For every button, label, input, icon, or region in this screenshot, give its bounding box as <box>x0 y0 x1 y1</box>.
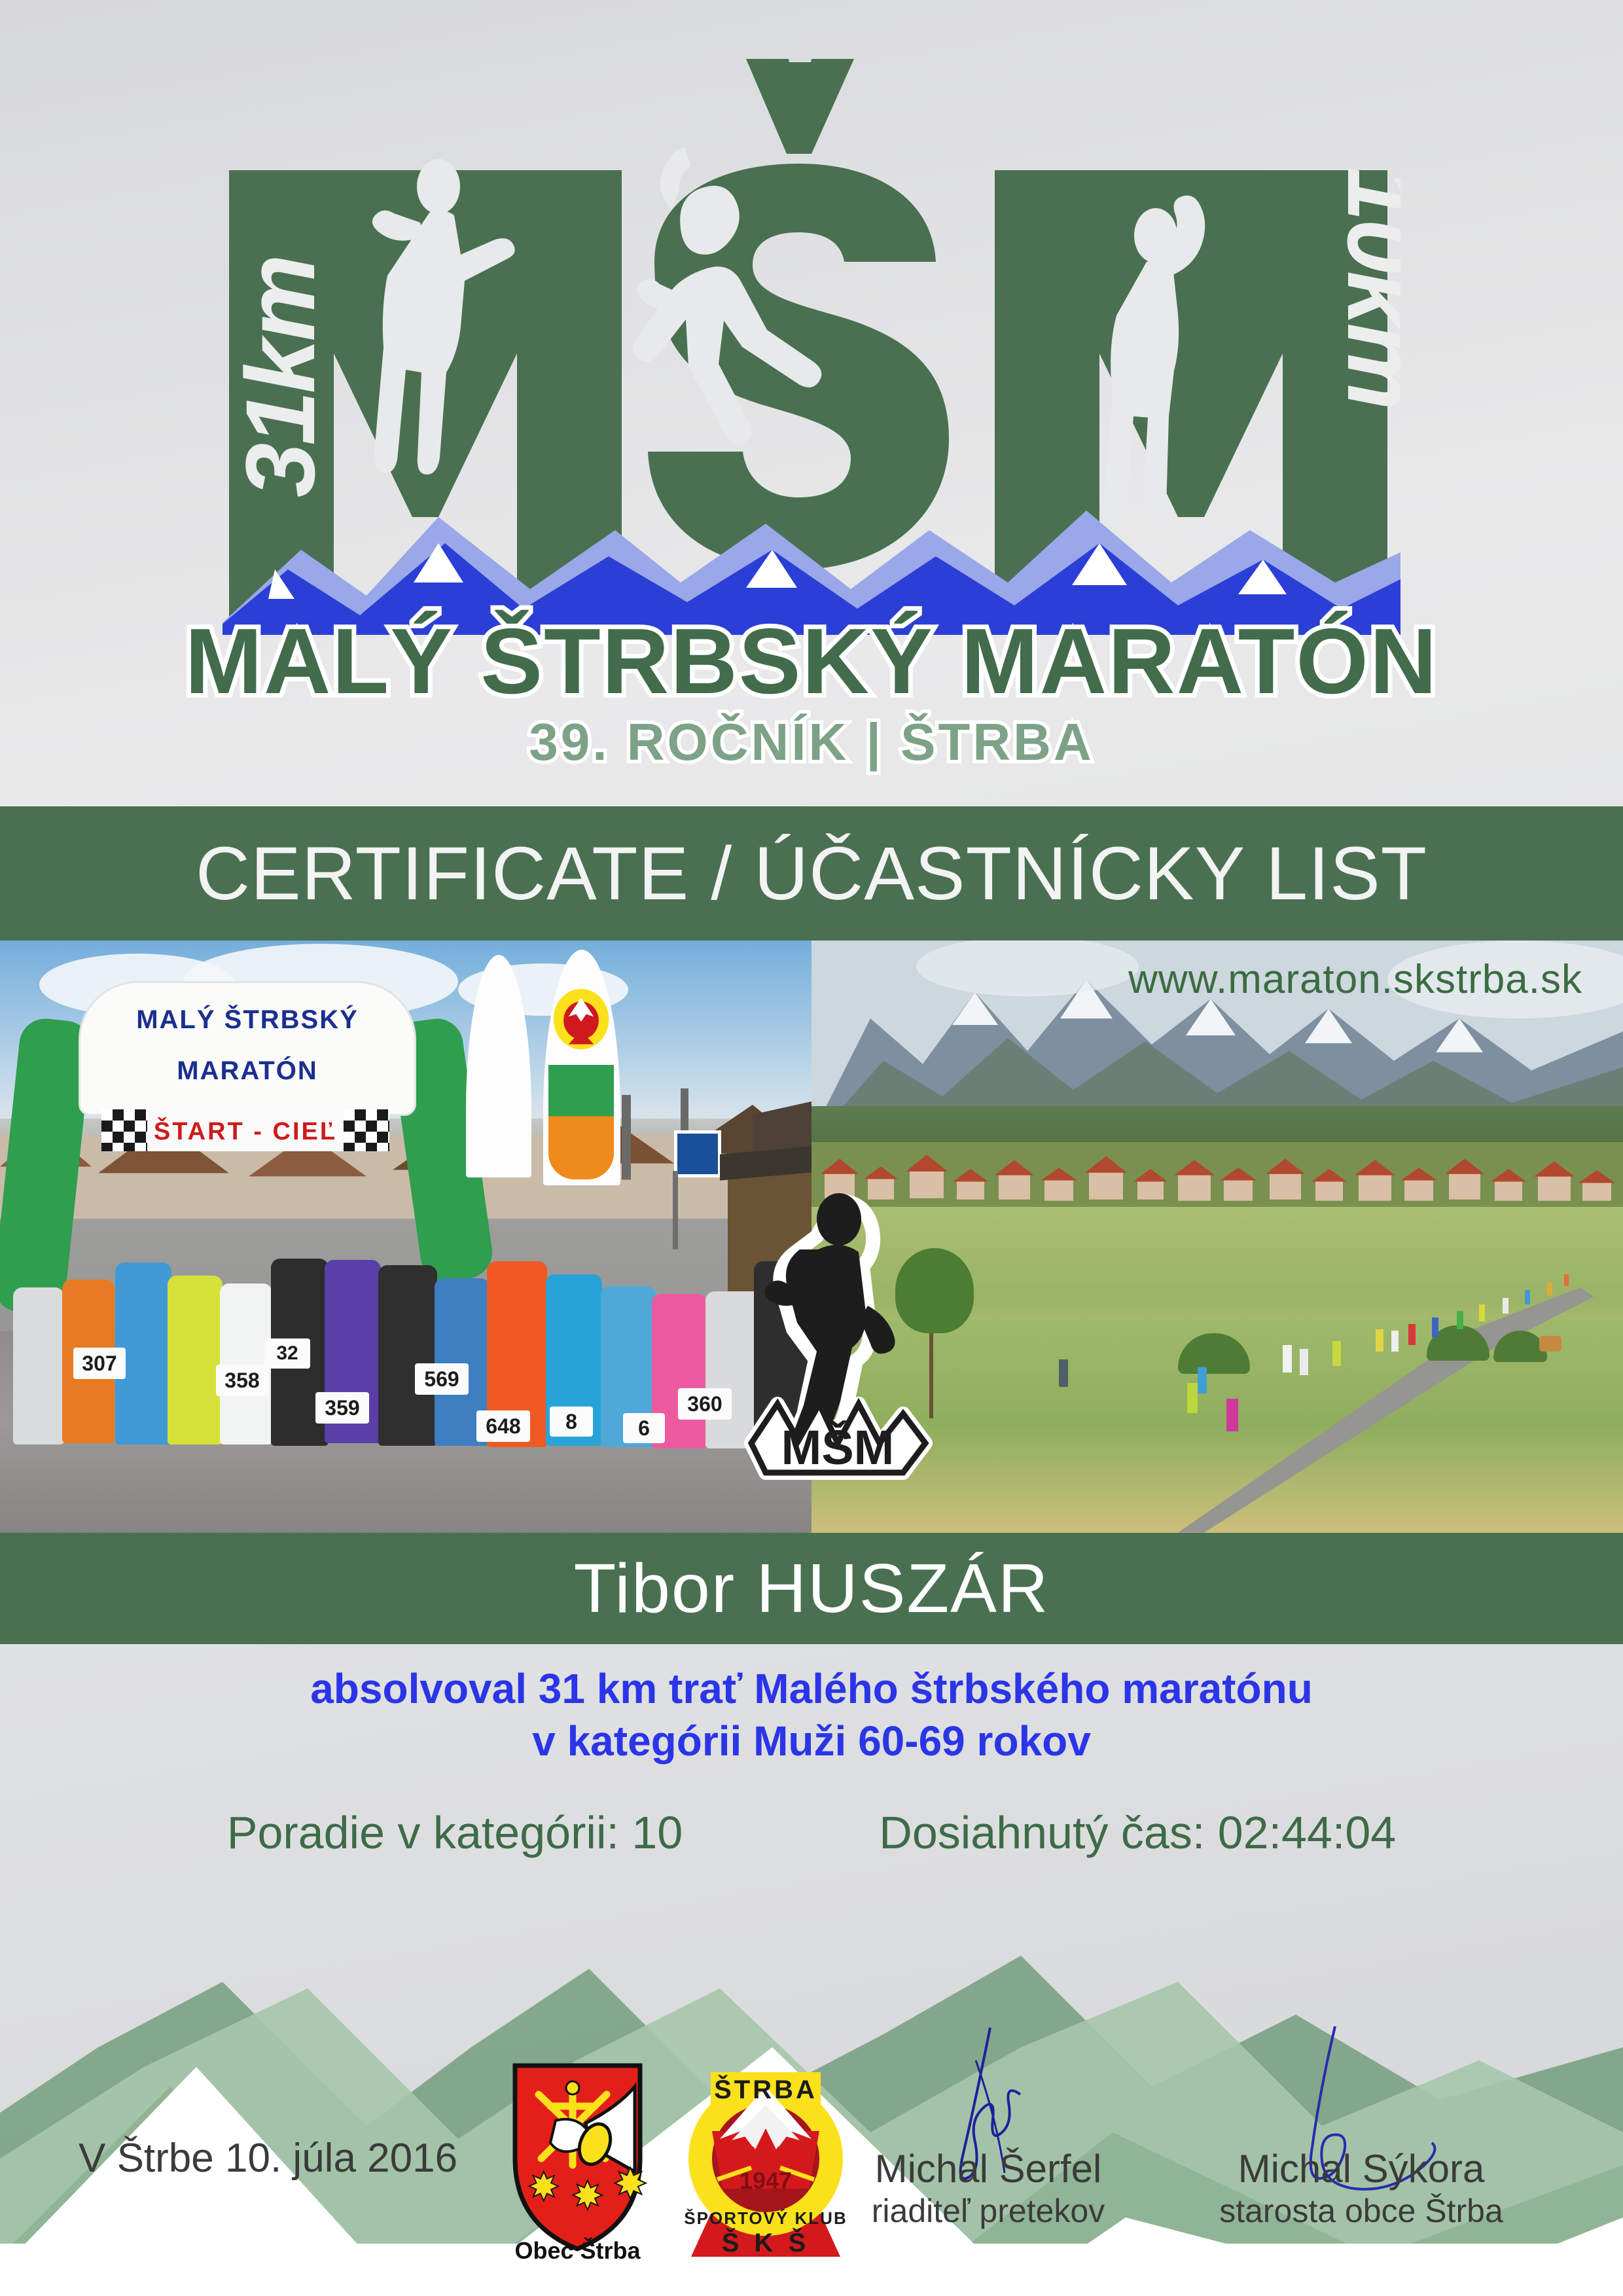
race-bib: 648 <box>476 1410 530 1442</box>
msm-runner-sticker-icon: MŠM <box>740 1181 936 1489</box>
runner <box>1226 1399 1238 1431</box>
arch-text-line2: MARATÓN <box>80 1056 414 1086</box>
website-url: www.maraton.skstrba.sk <box>1128 956 1582 1003</box>
msm-lettermark-icon: 31km 10km <box>223 46 1400 635</box>
logo-zone: 31km 10km <box>0 0 1623 795</box>
runner <box>378 1265 437 1446</box>
sign-pole <box>673 1171 678 1249</box>
race-bib: 6 <box>623 1413 665 1443</box>
race-bib: 359 <box>315 1392 369 1424</box>
club-top-text: ŠTRBA <box>714 2074 817 2104</box>
athlete-name-banner: Tibor HUSZÁR <box>0 1533 1623 1644</box>
start-finish-banner: ŠTART - CIEĽ <box>101 1109 389 1151</box>
svg-text:10km: 10km <box>1327 167 1400 408</box>
msm-sticker-text: MŠM <box>781 1420 895 1475</box>
signatory-1-name: Michal Šerfel <box>844 2146 1132 2191</box>
club-abbr: Š K Š <box>722 2227 810 2257</box>
club-logo-on-flag-icon <box>550 985 613 1057</box>
race-bib: 569 <box>415 1363 469 1395</box>
svg-text:31km: 31km <box>225 257 335 497</box>
runner <box>1564 1274 1569 1286</box>
spectator <box>1059 1359 1068 1387</box>
pedestrian-sign-icon <box>674 1130 721 1177</box>
signatory-2-role: starosta obce Štrba <box>1198 2191 1525 2231</box>
cow <box>1539 1336 1561 1352</box>
runner <box>1300 1349 1308 1375</box>
description-line-2: v kategórii Muži 60-69 rokov <box>0 1715 1623 1767</box>
race-start-photo: MALÝ ŠTRBSKÝ MARATÓN ŠTART - CIEĽ <box>0 941 811 1533</box>
obec-strba-label: Obec Štrba <box>507 2237 648 2265</box>
start-finish-text: ŠTART - CIEĽ <box>101 1118 389 1146</box>
race-bib: 8 <box>550 1407 593 1437</box>
runner <box>1408 1324 1416 1345</box>
signatory-1: Michal Šerfel riaditeľ pretekov <box>844 2146 1132 2231</box>
race-bib: 358 <box>216 1365 268 1396</box>
runner <box>1547 1282 1552 1295</box>
flag-stripe <box>548 1065 614 1179</box>
runner <box>168 1276 223 1444</box>
runner <box>1283 1345 1292 1372</box>
certificate-page: 31km 10km <box>0 0 1623 2296</box>
msm-logo: 31km 10km <box>223 46 1400 635</box>
runner <box>1503 1298 1508 1314</box>
runner <box>1479 1304 1485 1321</box>
certificate-title: CERTIFICATE / ÚČASTNÍCKY LIST <box>196 831 1427 917</box>
obec-strba-crest-icon <box>507 2060 648 2257</box>
footer: V Štrbe 10. júla 2016 Obec Štrba <box>0 2015 1623 2296</box>
page-subtitle: 39. ROČNÍK | ŠTRBA <box>0 716 1623 768</box>
sks-club-logo-icon: ŠTRBA 1947 ŠPORTOVÝ KLUB Š K Š <box>681 2060 851 2257</box>
page-title: MALÝ ŠTRBSKÝ MARATÓN <box>0 615 1623 708</box>
signatory-1-role: riaditeľ pretekov <box>844 2191 1132 2231</box>
athlete-name: Tibor HUSZÁR <box>574 1549 1050 1628</box>
certificate-banner: CERTIFICATE / ÚČASTNÍCKY LIST <box>0 806 1623 941</box>
race-bib: 360 <box>678 1388 732 1420</box>
runner <box>1391 1331 1399 1352</box>
finish-time: Dosiahnutý čas: 02:44:04 <box>879 1806 1396 1859</box>
arch-banner: MALÝ ŠTRBSKÝ MARATÓN <box>79 981 416 1116</box>
runner <box>13 1287 64 1444</box>
race-bib: 307 <box>73 1348 126 1379</box>
title-block: MALÝ ŠTRBSKÝ MARATÓN 39. ROČNÍK | ŠTRBA <box>0 615 1623 768</box>
runner <box>1457 1311 1463 1329</box>
club-arc-text: ŠPORTOVÝ KLUB <box>684 2208 847 2228</box>
runner <box>1525 1290 1530 1304</box>
arch-text-line1: MALÝ ŠTRBSKÝ <box>80 1005 414 1035</box>
signatory-2-name: Michal Sýkora <box>1198 2146 1525 2191</box>
runner <box>1376 1329 1383 1352</box>
runner <box>1198 1367 1207 1393</box>
signatory-2: Michal Sýkora starosta obce Štrba <box>1198 2146 1525 2231</box>
runner <box>1187 1383 1198 1413</box>
runner <box>1432 1318 1438 1337</box>
race-bib: 32 <box>264 1338 310 1369</box>
place-and-date: V Štrbe 10. júla 2016 <box>79 2135 457 2181</box>
achievement-description: absolvoval 31 km trať Malého štrbského m… <box>0 1662 1623 1767</box>
category-rank: Poradie v kategórii: 10 <box>227 1806 683 1859</box>
runner <box>1332 1341 1341 1366</box>
club-year: 1947 <box>740 2167 792 2194</box>
description-line-1: absolvoval 31 km trať Malého štrbského m… <box>0 1662 1623 1715</box>
results-row: Poradie v kategórii: 10 Dosiahnutý čas: … <box>0 1806 1623 1859</box>
